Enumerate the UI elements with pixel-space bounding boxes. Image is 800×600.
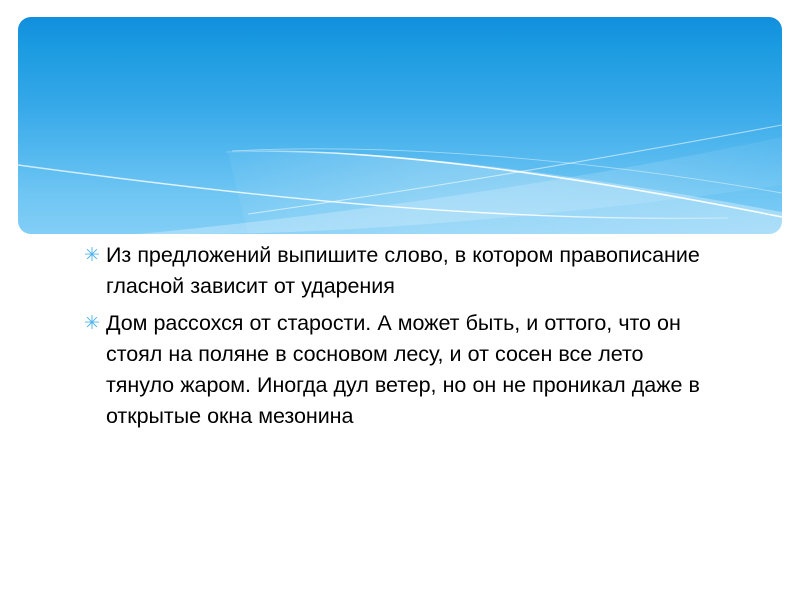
body-content: ✳ Из предложений выпишите слово, в котор… [80,240,720,438]
bullet-text-1: Из предложений выпишите слово, в котором… [106,240,706,302]
asterisk-bullet-icon: ✳ [80,308,106,339]
header-banner-decoration [18,17,782,234]
list-item: ✳ Из предложений выпишите слово, в котор… [80,240,720,302]
banner-swoosh-graphic [18,17,782,234]
list-item: ✳ Дом рассохся от старости. А может быть… [80,308,720,432]
slide-canvas: ✳ Из предложений выпишите слово, в котор… [0,0,800,600]
bullet-text-2: Дом рассохся от старости. А может быть, … [106,308,706,432]
asterisk-bullet-icon: ✳ [80,240,106,271]
